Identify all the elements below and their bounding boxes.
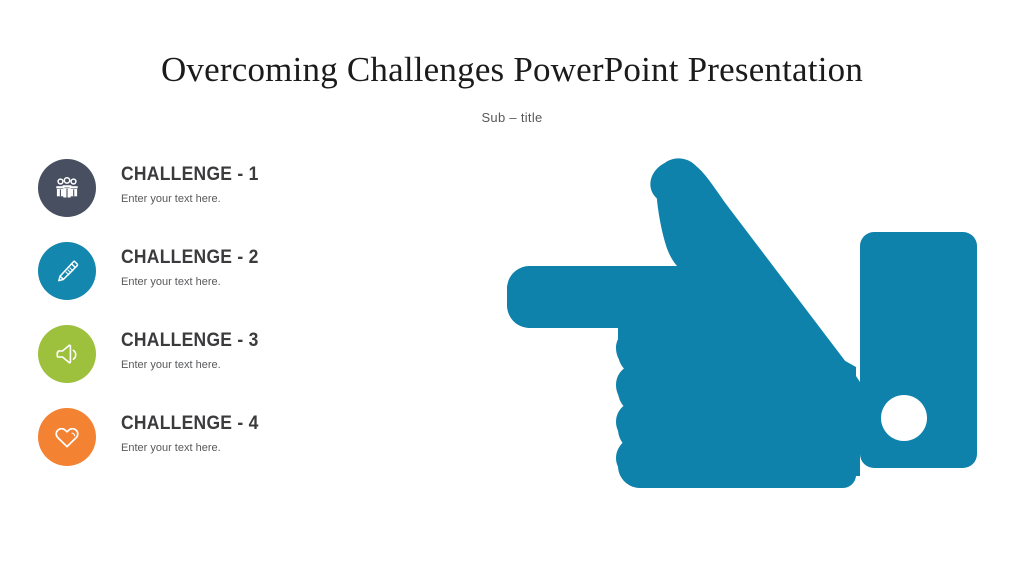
challenge-title: CHALLENGE - 4 (121, 413, 319, 435)
challenge-text-block-2: CHALLENGE - 2 Enter your text here. (121, 247, 336, 290)
people-group-icon (52, 173, 82, 203)
presentation-slide: Overcoming Challenges PowerPoint Present… (0, 0, 1024, 576)
list-item[interactable]: CHALLENGE - 1 Enter your text here. (38, 159, 338, 242)
challenge-title: CHALLENGE - 2 (121, 247, 319, 269)
challenge-icon-badge-1[interactable] (38, 159, 96, 217)
challenge-title: CHALLENGE - 1 (121, 164, 319, 186)
challenge-description: Enter your text here. (121, 441, 336, 456)
challenge-icon-badge-3[interactable] (38, 325, 96, 383)
cuff-button (881, 395, 927, 441)
speaker-icon (52, 339, 82, 369)
pointing-hand-illustration (500, 120, 1000, 490)
page-title: Overcoming Challenges PowerPoint Present… (0, 50, 1024, 90)
challenge-text-block-4: CHALLENGE - 4 Enter your text here. (121, 413, 336, 456)
list-item[interactable]: CHALLENGE - 2 Enter your text here. (38, 242, 338, 325)
challenge-icon-badge-4[interactable] (38, 408, 96, 466)
challenge-text-block-3: CHALLENGE - 3 Enter your text here. (121, 330, 336, 373)
challenge-icon-badge-2[interactable] (38, 242, 96, 300)
challenge-title: CHALLENGE - 3 (121, 330, 319, 352)
challenge-description: Enter your text here. (121, 192, 336, 207)
list-item[interactable]: CHALLENGE - 4 Enter your text here. (38, 408, 338, 491)
challenge-list: CHALLENGE - 1 Enter your text here. (38, 159, 338, 491)
challenge-text-block-1: CHALLENGE - 1 Enter your text here. (121, 164, 336, 207)
challenge-description: Enter your text here. (121, 358, 336, 373)
challenge-description: Enter your text here. (121, 275, 336, 290)
pencil-icon (52, 256, 82, 286)
heart-icon (52, 422, 82, 452)
list-item[interactable]: CHALLENGE - 3 Enter your text here. (38, 325, 338, 408)
